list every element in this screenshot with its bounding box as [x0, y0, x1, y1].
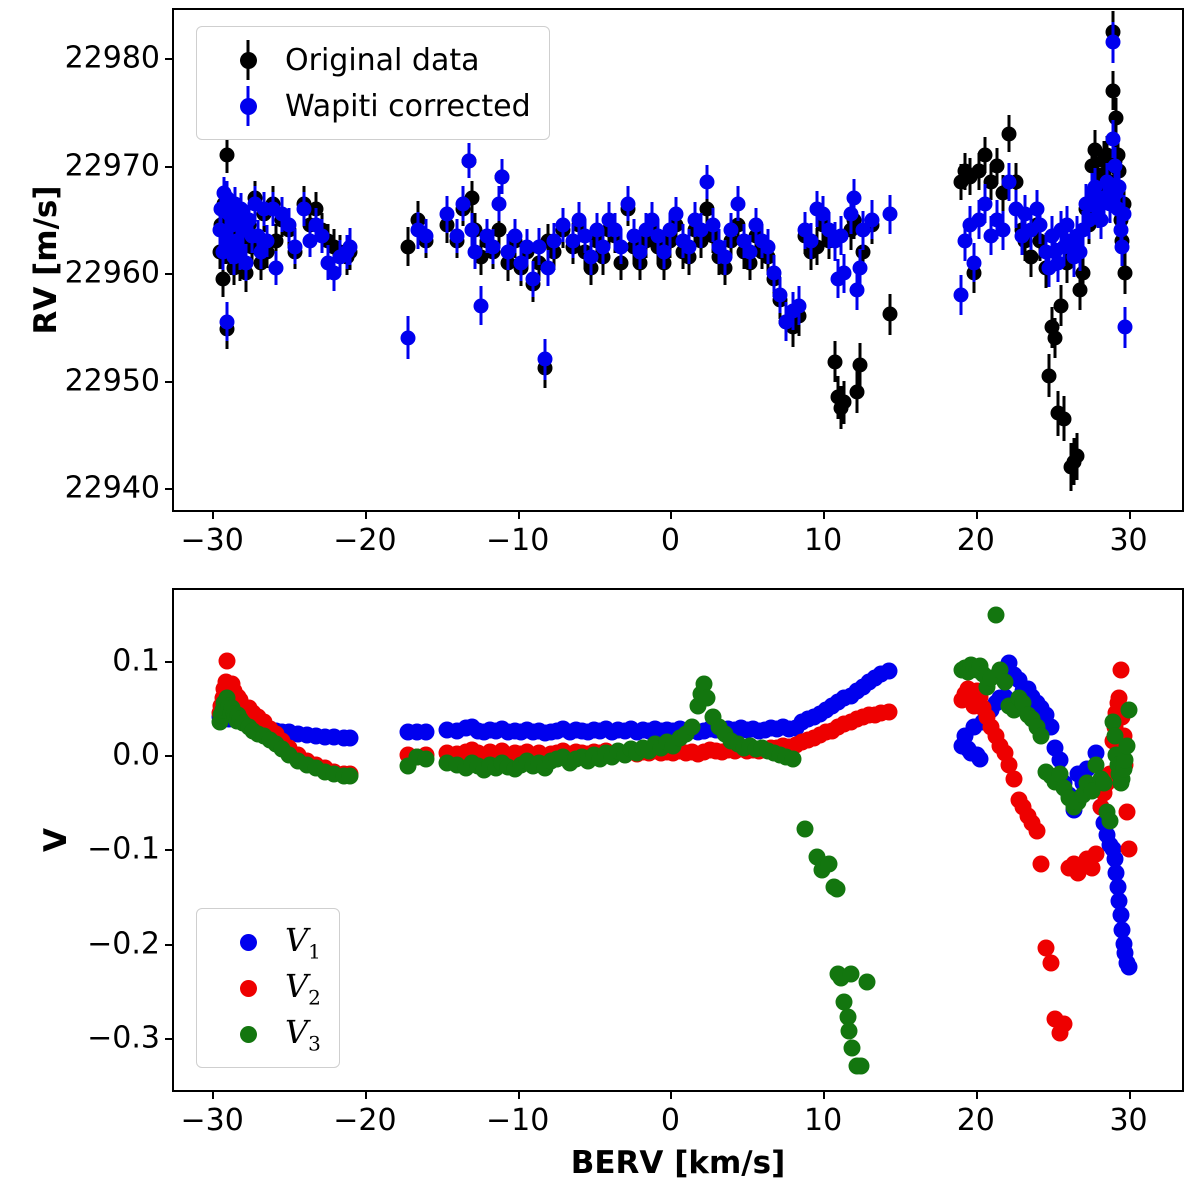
- data-point: [681, 239, 696, 254]
- legend-label-original: Original data: [285, 43, 480, 78]
- data-point: [1033, 855, 1050, 872]
- data-point: [473, 298, 488, 313]
- data-point: [1054, 298, 1069, 313]
- v-y-axis-label: V: [38, 828, 74, 852]
- y-tick-label: 0.0: [112, 738, 160, 773]
- y-tick: [165, 381, 174, 383]
- data-point: [525, 271, 540, 286]
- dot-icon-green: [211, 1011, 285, 1057]
- data-point: [1112, 180, 1127, 195]
- x-tick-label: −10: [486, 523, 549, 558]
- x-tick: [823, 1090, 825, 1099]
- y-tick: [165, 849, 174, 851]
- data-point: [315, 228, 330, 243]
- x-tick: [365, 1090, 367, 1099]
- data-point: [996, 673, 1013, 690]
- data-point: [1120, 959, 1137, 976]
- data-point: [1069, 449, 1084, 464]
- data-point: [883, 207, 898, 222]
- data-point: [620, 196, 635, 211]
- x-tick-label: −30: [181, 523, 244, 558]
- data-point: [1115, 239, 1130, 254]
- figure-root: −30−20−100102030 22940229502296022970229…: [0, 0, 1200, 1195]
- data-point: [803, 234, 818, 249]
- errorbar-dot-icon-black: [211, 37, 285, 83]
- data-point: [464, 223, 479, 238]
- data-point: [1088, 846, 1105, 863]
- x-tick: [1129, 1090, 1131, 1099]
- data-point: [844, 1039, 861, 1056]
- data-point: [492, 196, 507, 211]
- data-point: [821, 855, 838, 872]
- x-tick-label: 30: [1109, 523, 1147, 558]
- data-point: [699, 690, 716, 707]
- data-point: [773, 287, 788, 302]
- data-point: [449, 228, 464, 243]
- legend-label-v3: V3: [285, 1013, 321, 1055]
- data-point: [996, 223, 1011, 238]
- x-tick: [976, 510, 978, 519]
- data-point: [583, 250, 598, 265]
- data-point: [837, 395, 852, 410]
- x-tick-label: −20: [333, 1103, 396, 1138]
- data-point: [837, 266, 852, 281]
- data-point: [972, 750, 989, 767]
- data-point: [547, 234, 562, 249]
- x-tick-label: −10: [486, 1103, 549, 1138]
- data-point: [828, 354, 843, 369]
- data-point: [287, 239, 302, 254]
- data-point: [843, 207, 858, 222]
- data-point: [1106, 35, 1121, 50]
- data-point: [1072, 282, 1087, 297]
- y-tick-label: 0.1: [112, 643, 160, 678]
- x-tick: [670, 1090, 672, 1099]
- v-legend: V1 V2 V3: [196, 908, 340, 1068]
- data-point: [859, 973, 876, 990]
- rv-legend: Original data Wapiti corrected: [196, 26, 550, 140]
- x-tick: [976, 1090, 978, 1099]
- data-point: [596, 239, 611, 254]
- errorbar-dot-icon-blue: [211, 83, 285, 129]
- data-point: [269, 261, 284, 276]
- rv-y-axis-label: RV [m/s]: [28, 185, 64, 334]
- data-point: [1118, 266, 1133, 281]
- y-tick-label: 22970: [65, 148, 160, 183]
- data-point: [1120, 841, 1137, 858]
- y-tick: [165, 58, 174, 60]
- x-tick: [670, 510, 672, 519]
- data-point: [977, 196, 992, 211]
- legend-item-v3: V3: [211, 1011, 321, 1057]
- y-tick: [165, 488, 174, 490]
- x-tick-label: 30: [1109, 1103, 1147, 1138]
- x-tick-label: 0: [661, 1103, 680, 1138]
- legend-label-v2: V2: [285, 967, 321, 1009]
- x-tick-label: 10: [804, 523, 842, 558]
- x-tick-label: 20: [957, 1103, 995, 1138]
- data-point: [828, 881, 845, 898]
- data-point: [495, 169, 510, 184]
- data-point: [1096, 775, 1113, 792]
- data-point: [852, 261, 867, 276]
- data-point: [683, 718, 700, 735]
- data-point: [296, 201, 311, 216]
- data-point: [418, 724, 435, 741]
- data-point: [987, 607, 1004, 624]
- data-point: [238, 255, 253, 270]
- y-tick-label: −0.1: [87, 832, 160, 867]
- x-tick: [518, 510, 520, 519]
- legend-label-v1: V1: [285, 921, 321, 963]
- data-point: [842, 965, 859, 982]
- data-point: [1033, 728, 1050, 745]
- dot-icon-blue: [211, 919, 285, 965]
- v-x-axis-label: BERV [km/s]: [571, 1145, 786, 1181]
- x-tick-label: 20: [957, 523, 995, 558]
- data-point: [1028, 822, 1045, 839]
- data-point: [1102, 813, 1119, 830]
- y-tick: [165, 944, 174, 946]
- data-point: [791, 298, 806, 313]
- rv-panel-axes: −30−20−100102030 22940229502296022970229…: [172, 8, 1184, 512]
- y-tick-label: 22980: [65, 41, 160, 76]
- legend-item-v1: V1: [211, 919, 321, 965]
- data-point: [418, 750, 435, 767]
- v-panel-axes: −30−20−100102030 −0.3−0.2−0.10.00.1 V BE…: [172, 588, 1184, 1092]
- data-point: [341, 730, 358, 747]
- data-point: [669, 207, 684, 222]
- x-tick: [212, 1090, 214, 1099]
- data-point: [400, 239, 415, 254]
- data-point: [1023, 250, 1038, 265]
- data-point: [532, 239, 547, 254]
- data-point: [1094, 212, 1109, 227]
- data-point: [1106, 132, 1121, 147]
- data-point: [461, 153, 476, 168]
- y-tick: [165, 166, 174, 168]
- data-point: [1119, 803, 1136, 820]
- data-point: [341, 767, 358, 784]
- x-tick-label: 0: [661, 523, 680, 558]
- data-point: [796, 820, 813, 837]
- data-point: [556, 218, 571, 233]
- data-point: [220, 314, 235, 329]
- data-point: [730, 196, 745, 211]
- legend-item-original: Original data: [211, 37, 531, 83]
- data-point: [1119, 737, 1136, 754]
- y-tick: [165, 273, 174, 275]
- data-point: [761, 239, 776, 254]
- data-point: [953, 287, 968, 302]
- y-tick: [165, 1038, 174, 1040]
- data-point: [1006, 770, 1023, 787]
- data-point: [440, 207, 455, 222]
- data-point: [541, 261, 556, 276]
- data-point: [1057, 411, 1072, 426]
- data-point: [852, 357, 867, 372]
- x-tick-label: 10: [804, 1103, 842, 1138]
- data-point: [1042, 368, 1057, 383]
- y-tick: [165, 661, 174, 663]
- data-point: [841, 1022, 858, 1039]
- data-point: [486, 239, 501, 254]
- data-point: [1116, 207, 1131, 222]
- data-point: [1056, 1015, 1073, 1032]
- legend-item-wapiti: Wapiti corrected: [211, 83, 531, 129]
- y-tick-label: 22960: [65, 256, 160, 291]
- data-point: [400, 330, 415, 345]
- data-point: [614, 239, 629, 254]
- data-point: [883, 307, 898, 322]
- data-point: [1029, 201, 1044, 216]
- data-point: [455, 196, 470, 211]
- data-point: [784, 750, 801, 767]
- data-point: [718, 250, 733, 265]
- data-point: [880, 703, 897, 720]
- data-point: [1120, 701, 1137, 718]
- x-tick: [518, 1090, 520, 1099]
- data-point: [220, 148, 235, 163]
- data-point: [538, 352, 553, 367]
- x-tick-label: −30: [181, 1103, 244, 1138]
- data-point: [967, 255, 982, 270]
- data-point: [419, 228, 434, 243]
- data-point: [1048, 330, 1063, 345]
- data-point: [880, 663, 897, 680]
- data-point: [467, 244, 482, 259]
- data-point: [849, 282, 864, 297]
- data-point: [1118, 320, 1133, 335]
- dot-icon-red: [211, 965, 285, 1011]
- data-point: [700, 175, 715, 190]
- y-tick-label: −0.2: [87, 926, 160, 961]
- legend-label-wapiti: Wapiti corrected: [285, 89, 531, 124]
- data-point: [1042, 954, 1059, 971]
- y-tick: [165, 755, 174, 757]
- data-point: [853, 1058, 870, 1075]
- data-point: [990, 158, 1005, 173]
- data-point: [219, 652, 236, 669]
- data-point: [864, 212, 879, 227]
- legend-item-v2: V2: [211, 965, 321, 1011]
- x-tick-label: −20: [333, 523, 396, 558]
- x-tick: [365, 510, 367, 519]
- data-point: [1002, 175, 1017, 190]
- data-point: [849, 384, 864, 399]
- data-point: [1072, 244, 1087, 259]
- data-point: [260, 234, 275, 249]
- data-point: [342, 239, 357, 254]
- data-point: [1002, 126, 1017, 141]
- data-point: [846, 191, 861, 206]
- data-point: [834, 228, 849, 243]
- x-tick: [1129, 510, 1131, 519]
- y-tick-label: 22940: [65, 471, 160, 506]
- data-point: [1106, 83, 1121, 98]
- y-tick-label: 22950: [65, 363, 160, 398]
- data-point: [742, 244, 757, 259]
- y-tick-label: −0.3: [87, 1021, 160, 1056]
- x-tick: [823, 510, 825, 519]
- data-point: [1112, 662, 1129, 679]
- x-tick: [212, 510, 214, 519]
